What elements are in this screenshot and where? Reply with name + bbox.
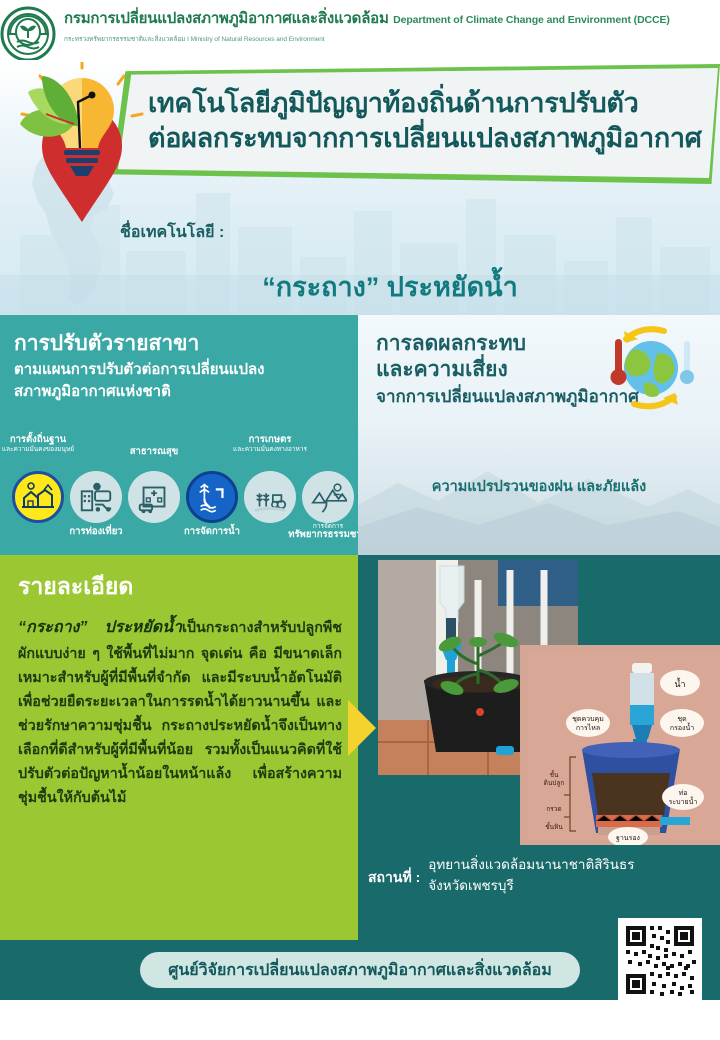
middle-row: การปรับตัวรายสาขา ตามแผนการปรับตัวต่อการ…	[0, 315, 720, 555]
detail-lead: “กระถาง” ประหยัดน้ำ	[18, 619, 182, 636]
sector-item-agriculture[interactable]: การเกษตร และความมั่นคงทางอาหาร	[244, 471, 296, 523]
mitigation-heading-line2: และความเสี่ยง	[376, 358, 508, 381]
place-value-line2: จังหวัดเพชรบุรี	[428, 878, 514, 893]
place-row: สถานที่ : อุทยานสิ่งแวดล้อมนานาชาติสิริน…	[368, 855, 720, 897]
diagram-label-control-1: ชุดควบคุม	[572, 716, 604, 723]
thermometer-hot	[611, 339, 627, 385]
mitigation-note: ความแปรปรวนของฝน และภัยแล้ง	[358, 475, 720, 498]
dcce-logo-block: กรมการเปลี่ยนแปลงสภาพภูมิอากาศและสิ่งแวด…	[0, 6, 712, 62]
research-center-name: ศูนย์วิจัยการเปลี่ยนแปลงสภาพภูมิอากาศและ…	[140, 952, 580, 988]
sector-label-main: การเกษตร	[222, 435, 318, 446]
diagram-label-base: ชั้นหิน	[545, 822, 563, 831]
tech-name-label: ชื่อเทคโนโลยี :	[120, 220, 224, 245]
place-value: อุทยานสิ่งแวดล้อมนานาชาติสิรินธร จังหวัด…	[428, 855, 634, 897]
sector-item-settlements[interactable]: การตั้งถิ่นฐาน และความมั่นคงของมนุษย์	[12, 471, 64, 523]
poster-root: กรมการเปลี่ยนแปลงสภาพภูมิอากาศและสิ่งแวด…	[0, 0, 720, 1040]
diagram-label-bottom: ฐานรอง	[616, 835, 640, 842]
thermometer-cold	[680, 341, 694, 384]
page-title-line1: เทคโนโลยีภูมิปัญญาท้องถิ่นด้านการปรับตัว	[148, 88, 638, 118]
diagram-label-soil-2: ดินปลูก	[544, 779, 565, 787]
diagram-label-soil-1: ชั้น	[550, 770, 559, 779]
sector-label-settlements: การตั้งถิ่นฐาน และความมั่นคงของมนุษย์	[0, 435, 86, 453]
sector-icon-strip: การตั้งถิ่นฐาน และความมั่นคงของมนุษย์	[6, 437, 358, 549]
page-title: เทคโนโลยีภูมิปัญญาท้องถิ่นด้านการปรับตัว…	[148, 86, 708, 155]
org-name-english: Department of Climate Change and Environ…	[393, 14, 670, 26]
sector-subheading-line1: ตามแผนการปรับตัวต่อการเปลี่ยนแปลง	[14, 361, 265, 378]
hero-section: เทคโนโลยีภูมิปัญญาท้องถิ่นด้านการปรับตัว…	[0, 60, 720, 315]
place-value-line1: อุทยานสิ่งแวดล้อมนานาชาติสิรินธร	[428, 857, 634, 872]
sector-adaptation-panel: การปรับตัวรายสาขา ตามแผนการปรับตัวต่อการ…	[0, 315, 358, 555]
sector-heading: การปรับตัวรายสาขา	[14, 331, 348, 356]
logo-text-group: กรมการเปลี่ยนแปลงสภาพภูมิอากาศและสิ่งแวด…	[64, 6, 712, 46]
sector-subheading-line2: สภาพภูมิอากาศแห่งชาติ	[14, 383, 171, 400]
sector-label-agriculture: การเกษตร และความมั่นคงทางอาหาร	[222, 435, 318, 453]
settlement-houses-icon	[12, 471, 64, 523]
diagram-label-control-2: การไหล	[576, 723, 600, 732]
sector-subheading: ตามแผนการปรับตัวต่อการเปลี่ยนแปลง สภาพภู…	[14, 359, 348, 403]
sector-label-main: การจัดการน้ำ	[164, 527, 260, 538]
diagram-label-gravel: กรวด	[546, 806, 561, 813]
qr-code-icon[interactable]	[618, 918, 702, 1002]
sector-label-sub: และความมั่นคงของมนุษย์	[0, 446, 86, 453]
yellow-right-arrow-icon	[348, 700, 378, 756]
media-column: น้ำ ชุด กรองน้ำ ชุดควบคุม การไหล ท่อ ระบ…	[358, 555, 720, 940]
diagram-label-drain-1: ท่อ	[679, 790, 688, 797]
detail-body: “กระถาง” ประหยัดน้ำเป็นกระถางสำหรับปลูกพ…	[18, 615, 342, 810]
sector-label-main: การท่องเที่ยว	[48, 527, 144, 538]
lightbulb-leaf-map-pin-icon	[16, 62, 148, 232]
natural-resources-mountain-icon	[302, 471, 354, 523]
mitigation-heading-line1: การลดผลกระทบ	[376, 332, 526, 355]
detail-body-text: เป็นกระถางสำหรับปลูกพืชผักแบบง่าย ๆ ใช้พ…	[18, 620, 342, 806]
place-label: สถานที่ :	[368, 855, 420, 889]
dcce-tree-water-emblem-icon	[0, 6, 56, 62]
sector-label-tourism: การท่องเที่ยว	[48, 527, 144, 538]
diagram-label-filter-1: ชุด	[677, 716, 686, 723]
org-name-thai: กรมการเปลี่ยนแปลงสภาพภูมิอากาศและสิ่งแวด…	[64, 10, 389, 27]
sector-item-public-health[interactable]: สาธารณสุข	[128, 471, 180, 523]
mitigation-panel: การลดผลกระทบ และความเสี่ยง จากการเปลี่ยน…	[358, 315, 720, 555]
sector-label-water-management: การจัดการน้ำ	[164, 527, 260, 538]
agriculture-wheat-tractor-icon	[244, 471, 296, 523]
mountain-range-silhouette-icon	[358, 445, 720, 555]
sector-item-tourism[interactable]: การท่องเที่ยว	[70, 471, 122, 523]
diagram-label-water: น้ำ	[674, 677, 685, 689]
public-health-hospital-icon	[128, 471, 180, 523]
bottom-spacer	[0, 1000, 720, 1040]
sector-label-sub: และความมั่นคงทางอาหาร	[222, 446, 318, 453]
sector-label-public-health: สาธารณสุข	[106, 447, 202, 458]
sector-label-main: สาธารณสุข	[106, 447, 202, 458]
ministry-name: กระทรวงทรัพยากรธรรมชาติและสิ่งแวดล้อม I …	[64, 36, 325, 43]
mitigation-heading: การลดผลกระทบ และความเสี่ยง	[376, 331, 591, 384]
globe-thermometer-cycle-icon	[596, 323, 706, 415]
sector-item-water-management[interactable]: การจัดการน้ำ	[186, 471, 238, 523]
tourism-bus-car-icon	[70, 471, 122, 523]
tech-name-value: “กระถาง” ประหยัดน้ำ	[0, 265, 720, 308]
sector-label-main: การตั้งถิ่นฐาน	[0, 435, 86, 446]
sector-item-natural-resources[interactable]: การจัดการ ทรัพยากรธรรมชาติ	[302, 471, 354, 523]
water-management-tap-river-icon	[186, 471, 238, 523]
page-title-line2: ต่อผลกระทบจากการเปลี่ยนแปลงสภาพภูมิอากาศ	[148, 121, 708, 156]
detail-panel: รายละเอียด “กระถาง” ประหยัดน้ำเป็นกระถาง…	[0, 555, 358, 940]
water-saving-pot-cross-section-diagram: น้ำ ชุด กรองน้ำ ชุดควบคุม การไหล ท่อ ระบ…	[520, 645, 720, 845]
detail-heading: รายละเอียด	[18, 569, 342, 605]
